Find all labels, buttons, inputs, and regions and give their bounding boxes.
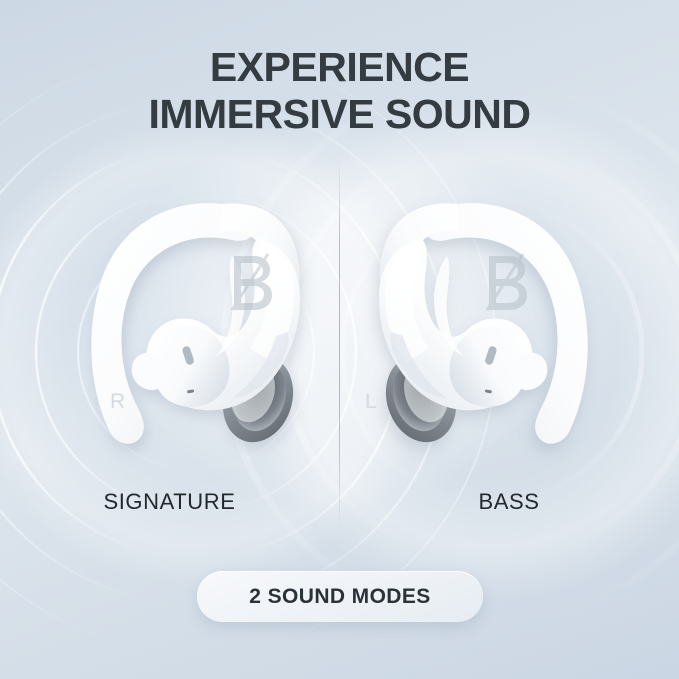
- mode-label-bass: BASS: [339, 489, 679, 515]
- sound-modes-badge: 2 SOUND MODES: [197, 571, 483, 622]
- side-marker-r: R: [110, 390, 125, 413]
- product-marketing-image: EXPERIENCE IMMERSIVE SOUND: [0, 0, 679, 679]
- sound-modes-badge-label: 2 SOUND MODES: [249, 585, 430, 609]
- side-marker-l: L: [365, 390, 377, 413]
- mode-label-signature: SIGNATURE: [0, 489, 339, 515]
- headline: EXPERIENCE IMMERSIVE SOUND: [0, 44, 679, 137]
- earbud-left-unit: L: [317, 186, 617, 454]
- headline-line-1: EXPERIENCE: [210, 44, 469, 90]
- headline-line-2: IMMERSIVE SOUND: [0, 91, 679, 138]
- brand-logo-icon: [487, 254, 527, 310]
